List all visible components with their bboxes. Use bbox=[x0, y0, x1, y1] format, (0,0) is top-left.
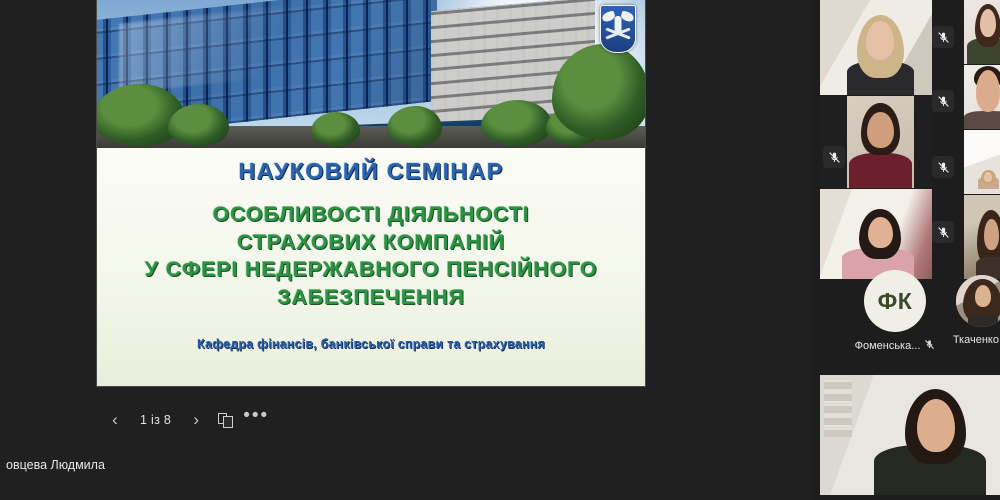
participant-tile-6[interactable] bbox=[964, 130, 1000, 194]
avatar bbox=[956, 275, 1000, 327]
participant-name-row: Ткаченко ... bbox=[936, 334, 1000, 346]
slide-navigation-bar: ‹ 1 із 8 › ••• bbox=[100, 405, 271, 435]
chevron-left-icon[interactable]: ‹ bbox=[100, 405, 130, 435]
video-feed bbox=[820, 0, 932, 95]
slide-subject: ОСОБЛИВОСТІ ДІЯЛЬНОСТІ СТРАХОВИХ КОМПАНІ… bbox=[97, 201, 645, 311]
crest-wing-right bbox=[620, 10, 635, 22]
participant-tile-5[interactable] bbox=[964, 65, 1000, 129]
video-feed bbox=[964, 65, 1000, 129]
university-crest-emblem bbox=[600, 5, 636, 53]
more-options-icon[interactable]: ••• bbox=[241, 405, 271, 435]
tree bbox=[387, 106, 442, 146]
slide-text-body: НАУКОВИЙ СЕМІНАР ОСОБЛИВОСТІ ДІЯЛЬНОСТІ … bbox=[97, 148, 645, 386]
participant-rail[interactable]: ФК Фоменська... bbox=[812, 0, 1000, 500]
participant-avatar-tkachenko[interactable]: Ткаченко ... bbox=[936, 275, 1000, 346]
video-feed bbox=[964, 130, 1000, 194]
slide-thumbnails-icon[interactable] bbox=[211, 405, 241, 435]
mic-muted-icon bbox=[932, 156, 954, 178]
mic-muted-icon bbox=[932, 221, 954, 243]
slide-title: НАУКОВИЙ СЕМІНАР bbox=[97, 158, 645, 185]
participant-tile-4[interactable] bbox=[964, 0, 1000, 64]
avatar: ФК bbox=[864, 270, 926, 332]
presentation-slide[interactable]: НАУКОВИЙ СЕМІНАР ОСОБЛИВОСТІ ДІЯЛЬНОСТІ … bbox=[97, 0, 645, 386]
slide-counter: 1 із 8 bbox=[130, 413, 181, 427]
slide-department: Кафедра фінансів, банківської справи та … bbox=[97, 337, 645, 351]
tree bbox=[168, 104, 228, 146]
participant-tile-1[interactable] bbox=[820, 0, 932, 95]
mic-muted-icon bbox=[932, 26, 954, 48]
active-speaker-name: овцева Людмила bbox=[0, 456, 111, 474]
meeting-window: НАУКОВИЙ СЕМІНАР ОСОБЛИВОСТІ ДІЯЛЬНОСТІ … bbox=[0, 0, 1000, 500]
participant-tile-3[interactable] bbox=[820, 189, 932, 279]
video-feed bbox=[964, 195, 1000, 279]
video-feed bbox=[820, 96, 932, 188]
video-feed bbox=[820, 375, 1000, 495]
mic-muted-icon bbox=[823, 146, 845, 168]
shared-screen-stage: НАУКОВИЙ СЕМІНАР ОСОБЛИВОСТІ ДІЯЛЬНОСТІ … bbox=[0, 0, 812, 500]
tree bbox=[481, 100, 552, 146]
participant-tile-7[interactable] bbox=[964, 195, 1000, 279]
tree bbox=[311, 112, 360, 146]
participant-avatar-fomenska[interactable]: ФК Фоменська... bbox=[848, 270, 942, 353]
chevron-right-icon[interactable]: › bbox=[181, 405, 211, 435]
video-feed bbox=[820, 189, 932, 279]
university-building-photo bbox=[97, 0, 645, 148]
video-feed bbox=[964, 0, 1000, 64]
mic-muted-icon bbox=[932, 90, 954, 112]
mic-muted-icon bbox=[924, 339, 935, 353]
participant-tile-featured[interactable] bbox=[820, 375, 1000, 495]
participant-name-row: Фоменська... bbox=[848, 339, 942, 353]
participant-tile-2[interactable] bbox=[820, 96, 932, 188]
participant-name: Фоменська... bbox=[855, 340, 921, 352]
participant-name: Ткаченко ... bbox=[953, 334, 1000, 346]
